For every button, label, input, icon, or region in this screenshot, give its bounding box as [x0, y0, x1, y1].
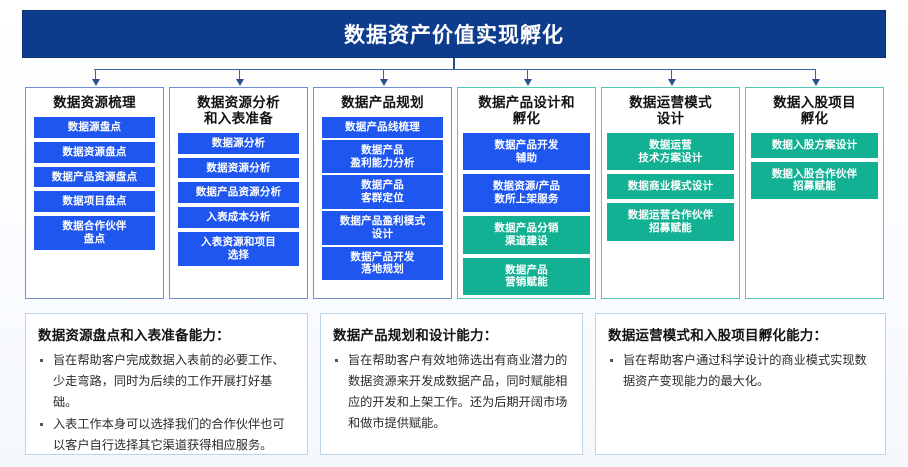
process-item-chip[interactable]: 数据产品客群定位: [322, 175, 443, 209]
process-item-chip[interactable]: 数据产品盈利能力分析: [322, 140, 443, 174]
process-item-chip[interactable]: 数据资源分析: [178, 158, 299, 179]
connector-arrow-icon-2: [236, 79, 244, 86]
connector-arrow-icon-6: [812, 79, 820, 86]
process-item-list: 数据产品开发辅助数据资源/产品数所上架服务数据产品分销渠道建设数据产品营销赋能: [464, 133, 589, 295]
capability-bullet: 旨在帮助客户有效地筛选出有商业潜力的数据资源来开发成数据产品，同时赋能相应的开发…: [333, 350, 570, 434]
capability-title: 数据资源盘点和入表准备能力：: [38, 324, 295, 344]
process-column-title: 数据入股项目孵化: [773, 95, 856, 127]
process-column-4[interactable]: 数据产品设计和孵化数据产品开发辅助数据资源/产品数所上架服务数据产品分销渠道建设…: [457, 87, 596, 299]
diagram-title: 数据资产价值实现孵化: [344, 19, 564, 49]
process-item-chip[interactable]: 入表成本分析: [178, 207, 299, 228]
process-column-title: 数据资源分析和入表准备: [197, 95, 280, 127]
connector-bus: [94, 69, 816, 70]
capability-bullet-list: 旨在帮助客户通过科学设计的商业模式实现数据资产变现能力的最大化。: [608, 350, 873, 392]
process-item-list: 数据源盘点数据资源盘点数据产品资源盘点数据项目盘点数据合作伙伴盘点: [32, 117, 157, 250]
process-item-chip[interactable]: 数据资源/产品数所上架服务: [463, 174, 590, 212]
capability-bullet: 旨在帮助客户通过科学设计的商业模式实现数据资产变现能力的最大化。: [608, 350, 873, 392]
process-column-5[interactable]: 数据运营模式设计数据运营技术方案设计数据商业模式设计数据运营合作伙伴招募赋能: [601, 87, 740, 299]
process-item-chip[interactable]: 数据商业模式设计: [607, 174, 734, 199]
process-column-title: 数据运营模式设计: [629, 95, 712, 127]
capability-bullet-list: 旨在帮助客户完成数据入表前的必要工作、少走弯路，同时为后续的工作开展打好基础。入…: [38, 350, 295, 456]
process-item-chip[interactable]: 数据产品盈利模式设计: [322, 211, 443, 245]
capability-title: 数据产品规划和设计能力：: [333, 324, 570, 344]
process-item-chip[interactable]: 数据入股合作伙伴招募赋能: [751, 162, 878, 200]
connector-arrow-icon-1: [92, 79, 100, 86]
process-item-chip[interactable]: 数据产品开发落地规划: [322, 247, 443, 281]
process-item-chip[interactable]: 数据源分析: [178, 133, 299, 154]
process-item-chip[interactable]: 数据产品开发辅助: [463, 133, 590, 171]
process-column-3[interactable]: 数据产品规划数据产品线梳理数据产品盈利能力分析数据产品客群定位数据产品盈利模式设…: [313, 87, 452, 299]
connector-arrow-icon-5: [668, 79, 676, 86]
process-column-1[interactable]: 数据资源梳理数据源盘点数据资源盘点数据产品资源盘点数据项目盘点数据合作伙伴盘点: [25, 87, 164, 299]
process-item-chip[interactable]: 数据入股方案设计: [751, 133, 878, 158]
process-item-chip[interactable]: 数据合作伙伴盘点: [34, 216, 155, 250]
process-column-title: 数据产品设计和孵化: [478, 95, 575, 127]
process-item-chip[interactable]: 数据运营合作伙伴招募赋能: [607, 203, 734, 241]
process-item-list: 数据源分析数据资源分析数据产品资源分析入表成本分析入表资源和项目选择: [176, 133, 301, 266]
capability-box-2: 数据产品规划和设计能力：旨在帮助客户有效地筛选出有商业潜力的数据资源来开发成数据…: [320, 313, 583, 455]
process-column-title: 数据资源梳理: [53, 95, 136, 111]
diagram-title-banner: 数据资产价值实现孵化: [22, 10, 886, 58]
process-column-title: 数据产品规划: [341, 95, 424, 111]
capability-box-3: 数据运营模式和入股项目孵化能力：旨在帮助客户通过科学设计的商业模式实现数据资产变…: [595, 313, 886, 455]
capability-bullet: 入表工作本身可以选择我们的合作伙伴也可以客户自行选择其它渠道获得相应服务。: [38, 414, 295, 456]
process-item-chip[interactable]: 数据项目盘点: [34, 191, 155, 212]
process-column-2[interactable]: 数据资源分析和入表准备数据源分析数据资源分析数据产品资源分析入表成本分析入表资源…: [169, 87, 308, 299]
capability-box-1: 数据资源盘点和入表准备能力：旨在帮助客户完成数据入表前的必要工作、少走弯路，同时…: [25, 313, 308, 455]
process-item-chip[interactable]: 数据产品分销渠道建设: [463, 216, 590, 254]
process-item-list: 数据产品线梳理数据产品盈利能力分析数据产品客群定位数据产品盈利模式设计数据产品开…: [320, 117, 445, 280]
process-column-6[interactable]: 数据入股项目孵化数据入股方案设计数据入股合作伙伴招募赋能: [745, 87, 884, 299]
connector-arrow-icon-3: [380, 79, 388, 86]
diagram-canvas: 数据资产价值实现孵化 数据资源梳理数据源盘点数据资源盘点数据产品资源盘点数据项目…: [0, 0, 908, 467]
process-item-list: 数据运营技术方案设计数据商业模式设计数据运营合作伙伴招募赋能: [608, 133, 733, 241]
process-item-chip[interactable]: 数据资源盘点: [34, 142, 155, 163]
process-item-chip[interactable]: 数据产品营销赋能: [463, 258, 590, 296]
process-item-chip[interactable]: 数据运营技术方案设计: [607, 133, 734, 171]
process-item-chip[interactable]: 数据产品资源盘点: [34, 167, 155, 188]
capability-bullet: 旨在帮助客户完成数据入表前的必要工作、少走弯路，同时为后续的工作开展打好基础。: [38, 350, 295, 413]
connector-arrow-icon-4: [524, 79, 532, 86]
process-item-chip[interactable]: 数据产品资源分析: [178, 182, 299, 203]
process-item-list: 数据入股方案设计数据入股合作伙伴招募赋能: [752, 133, 877, 199]
process-item-chip[interactable]: 入表资源和项目选择: [178, 232, 299, 266]
capability-title: 数据运营模式和入股项目孵化能力：: [608, 324, 873, 344]
process-item-chip[interactable]: 数据源盘点: [34, 117, 155, 138]
process-item-chip[interactable]: 数据产品线梳理: [322, 117, 443, 138]
capability-bullet-list: 旨在帮助客户有效地筛选出有商业潜力的数据资源来开发成数据产品，同时赋能相应的开发…: [333, 350, 570, 434]
